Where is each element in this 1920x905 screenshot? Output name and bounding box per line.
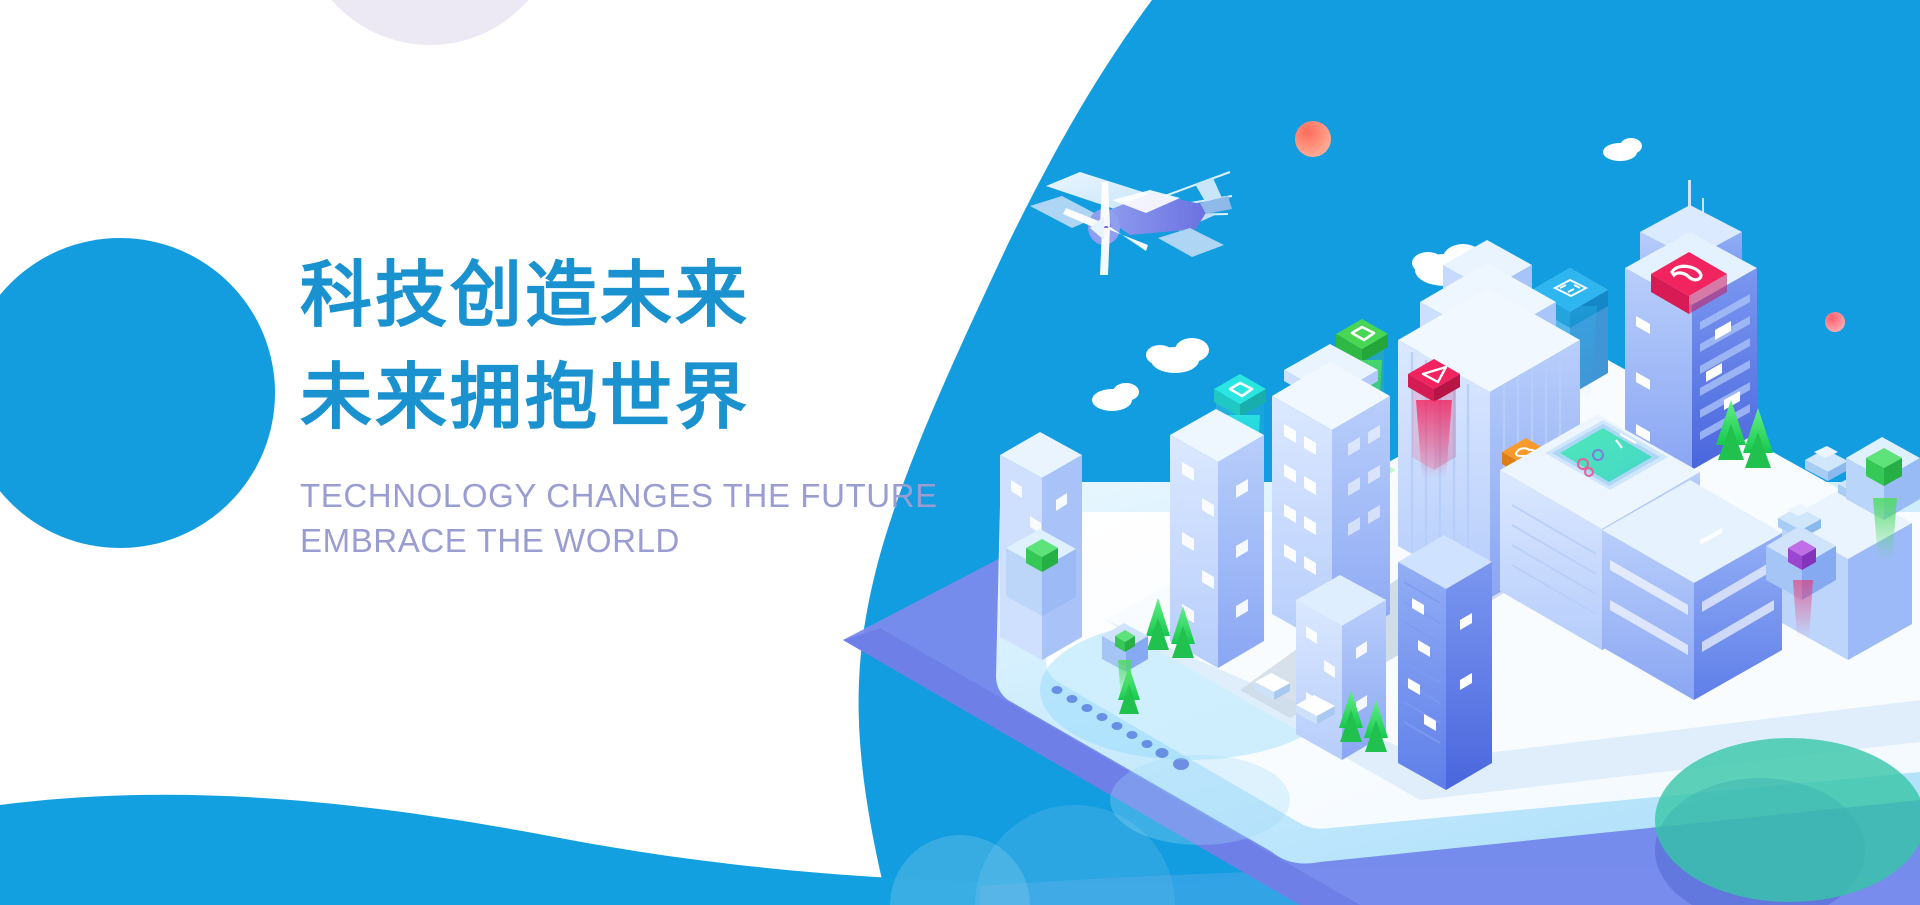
subtitle-line-2: EMBRACE THE WORLD (300, 518, 920, 563)
sphere-pink-small (1825, 312, 1845, 332)
building-dense-windows (1398, 535, 1492, 790)
hero-banner: 科技创造未来 未来拥抱世界 TECHNOLOGY CHANGES THE FUT… (0, 0, 1920, 905)
teal-accent-ellipse (1655, 738, 1920, 902)
title-line-2: 未来拥抱世界 (300, 347, 920, 449)
page-title: 科技创造未来 未来拥抱世界 (300, 245, 920, 449)
banner-text-block: 科技创造未来 未来拥抱世界 TECHNOLOGY CHANGES THE FUT… (300, 245, 920, 563)
sphere-orange (1295, 121, 1331, 157)
banner-illustration (0, 0, 1920, 905)
beam-pink (1416, 400, 1452, 478)
subtitle-line-1: TECHNOLOGY CHANGES THE FUTURE (300, 473, 920, 518)
title-line-1: 科技创造未来 (300, 245, 920, 347)
page-subtitle: TECHNOLOGY CHANGES THE FUTURE EMBRACE TH… (300, 473, 920, 563)
phone-corner-glow (1110, 755, 1290, 845)
